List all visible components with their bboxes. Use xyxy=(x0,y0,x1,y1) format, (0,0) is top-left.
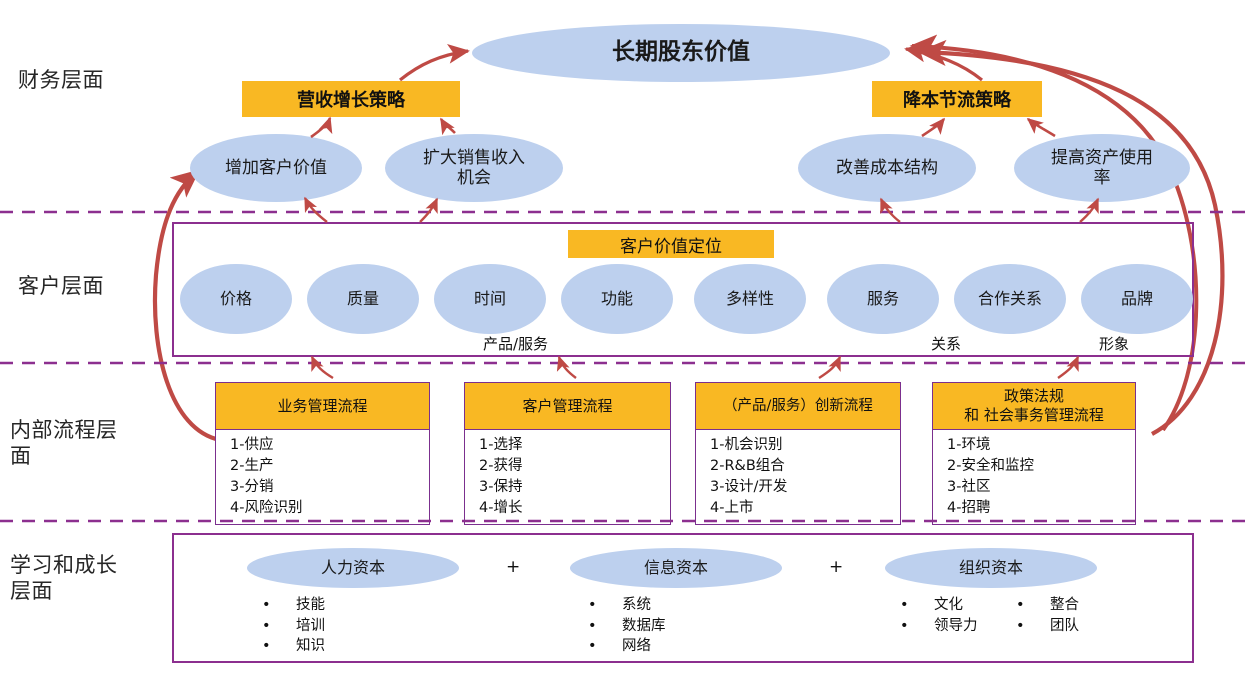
arrow-customer-to-raise-asset-util xyxy=(1080,199,1098,222)
arrow-customer-to-improve-cost-structure xyxy=(881,199,900,222)
arrow-revenue-strategy-to-vision xyxy=(400,51,468,80)
arrow-customer-to-expand-sales xyxy=(420,199,437,222)
strategy-map-diagram: 财务层面 客户层面 内部流程层 面 学习和成长 层面 长期股东价值 营收增长策略… xyxy=(0,0,1252,677)
arrow-customer-to-increase-customer-value xyxy=(305,198,327,222)
connector-arrows-and-dividers xyxy=(0,0,1252,677)
arrow-expand-sales-to-revenue-strategy xyxy=(441,119,455,133)
arrow-regulatory-to-customer-layer xyxy=(1058,357,1078,378)
arrow-operations-to-customer-layer xyxy=(312,357,333,378)
arrow-innovation-to-customer-layer xyxy=(819,357,840,378)
arrow-increase-customer-value-to-revenue-strategy xyxy=(311,118,330,137)
arrow-improve-cost-structure-to-cost-strategy xyxy=(922,119,944,136)
arrow-cost-strategy-to-vision xyxy=(906,49,982,80)
arrow-raise-asset-util-to-cost-strategy xyxy=(1028,119,1055,136)
arrow-customer-mgmt-to-customer-layer xyxy=(559,357,576,378)
